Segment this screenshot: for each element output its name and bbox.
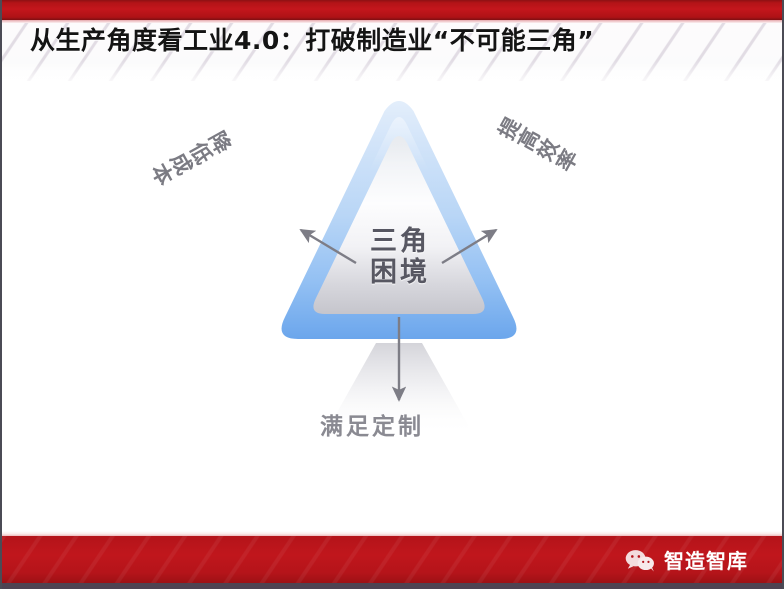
center-text-line2: 困境 bbox=[340, 257, 460, 288]
bottom-foot-strip bbox=[2, 583, 784, 589]
wechat-icon bbox=[625, 549, 655, 572]
triangle-center-text: 三角 困境 bbox=[340, 226, 460, 289]
label-meet-customization: 满足定制 bbox=[320, 407, 424, 441]
triangle-diagram: 三角 困境 降低成本 提高效率 满足定制 bbox=[224, 95, 574, 455]
top-red-band bbox=[2, 0, 784, 20]
center-text-line1: 三角 bbox=[340, 226, 460, 257]
brand-name: 智造智库 bbox=[664, 551, 748, 571]
slide-root: 从生产角度看工业4.0：打破制造业“不可能三角” bbox=[0, 0, 784, 589]
slide-body: 三角 困境 降低成本 提高效率 满足定制 bbox=[2, 85, 784, 535]
page-title: 从生产角度看工业4.0：打破制造业“不可能三角” bbox=[30, 28, 594, 54]
label-reduce-cost: 降低成本 bbox=[145, 123, 237, 192]
footer-brand: 智造智库 bbox=[625, 549, 748, 572]
header-fade bbox=[2, 61, 784, 87]
